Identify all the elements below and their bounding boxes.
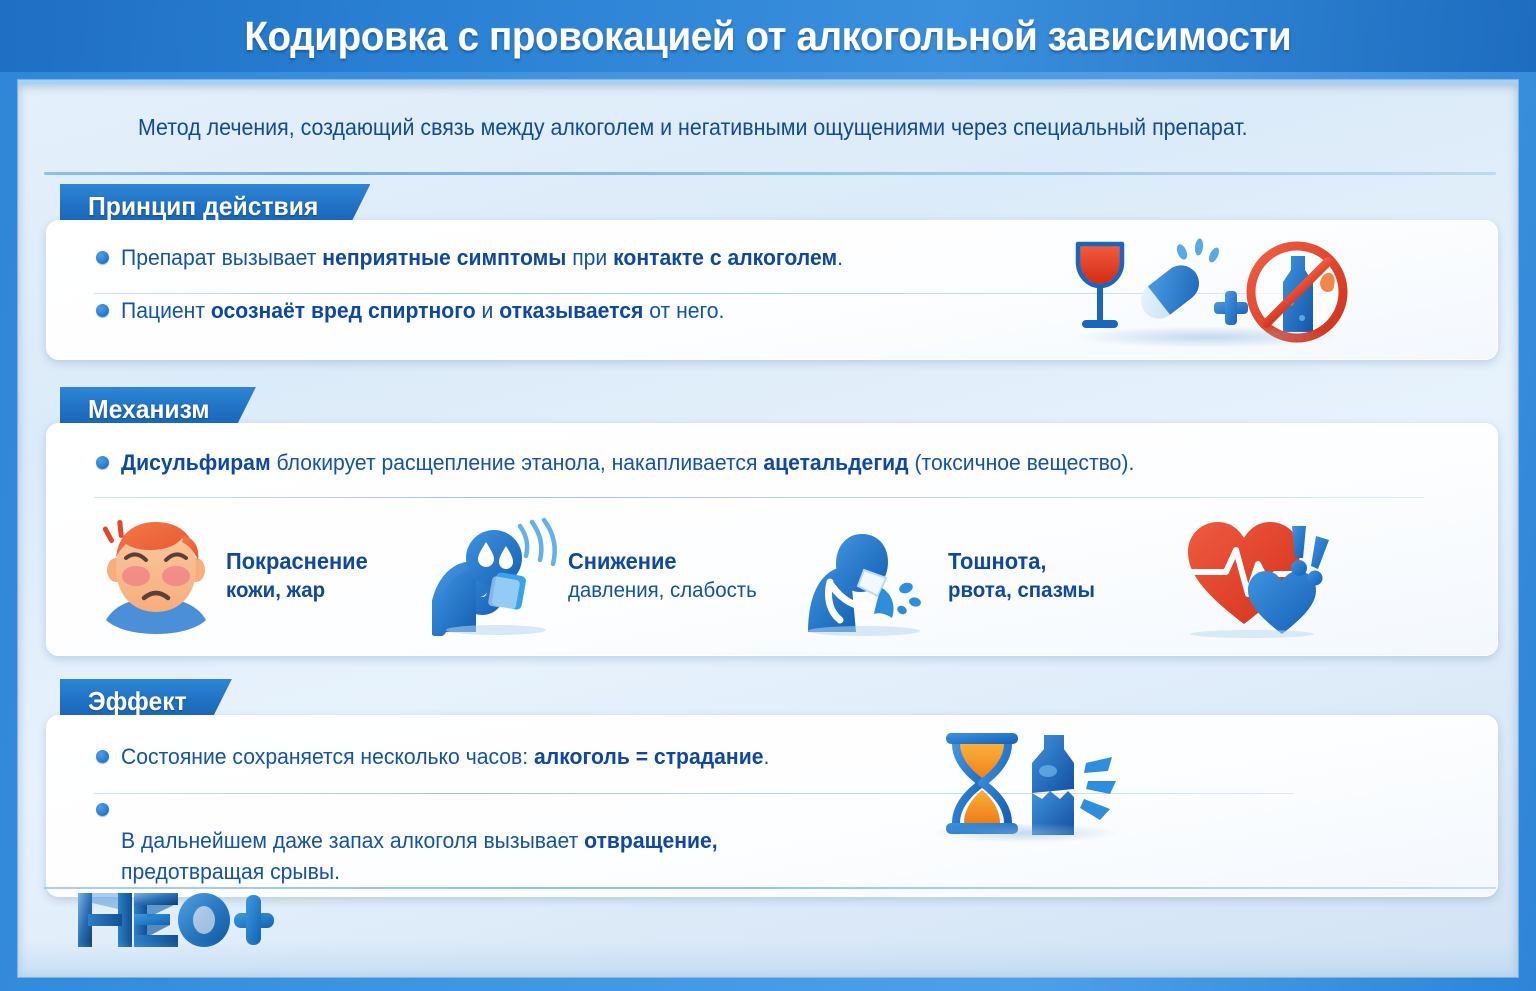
symptom-item bbox=[1182, 514, 1382, 639]
bullet-dot-icon bbox=[96, 750, 109, 763]
bullet-dot-icon bbox=[96, 456, 109, 469]
divider-top bbox=[44, 172, 1496, 175]
text-run: предотвращая срывы. bbox=[121, 859, 340, 884]
section-principle: Принцип действия Препарат вызывает непри… bbox=[46, 184, 1498, 228]
text-run-bold: Дисульфирам bbox=[121, 450, 271, 475]
symptom-label: Снижение давления, слабость bbox=[568, 547, 767, 605]
text-run: В дальнейшем даже запах алкоголя вызывае… bbox=[121, 828, 584, 853]
bullet-text: Состояние сохраняется несколько часов: а… bbox=[121, 741, 769, 772]
page-header: Кодировка с провокацией от алкогольной з… bbox=[0, 0, 1536, 72]
text-run: от него. bbox=[643, 298, 724, 323]
text-run-bold: неприятные симптомы bbox=[322, 245, 566, 270]
symptom-line2: рвота, спазмы bbox=[948, 576, 1095, 605]
plus-icon bbox=[1214, 291, 1248, 325]
bullet-dot-icon bbox=[96, 304, 109, 317]
heartbeat-alert-icon bbox=[1182, 514, 1342, 639]
bullet-dot-icon bbox=[96, 251, 109, 264]
neo-plus-logo-icon bbox=[74, 889, 274, 951]
anger-marks-icon bbox=[102, 519, 124, 543]
symptom-line1: Тошнота, bbox=[948, 547, 1095, 576]
bullet-text: Дисульфирам блокирует расщепление этанол… bbox=[121, 447, 1134, 478]
brand-logo bbox=[74, 889, 274, 951]
text-run: Состояние сохраняется несколько часов: bbox=[121, 744, 534, 769]
symptom-item: Покраснение кожи, жар bbox=[92, 514, 432, 639]
bullet-dot-icon bbox=[96, 803, 109, 816]
symptom-item: Тошнота, рвота, спазмы bbox=[802, 516, 1182, 636]
text-run: и bbox=[476, 298, 500, 323]
bullet-divider bbox=[94, 497, 1424, 498]
symptom-line2: давления, слабость bbox=[568, 576, 757, 605]
motion-lines-icon bbox=[520, 520, 555, 564]
symptom-line1: Покраснение bbox=[226, 547, 368, 576]
text-run-bold: контакте с алкоголем bbox=[613, 245, 837, 270]
symptom-label: Покраснение кожи, жар bbox=[226, 547, 375, 605]
text-run-bold: ацетальдегид bbox=[763, 450, 908, 475]
icon-cluster-effect bbox=[926, 719, 1126, 847]
card-mechanism: Дисульфирам блокирует расщепление этанол… bbox=[46, 423, 1498, 656]
sparkle-icon bbox=[1175, 238, 1221, 264]
symptom-item: Снижение давления, слабость bbox=[432, 516, 802, 636]
page-title: Кодировка с провокацией от алкогольной з… bbox=[245, 13, 1292, 60]
dizzy-person-icon bbox=[432, 516, 562, 636]
vomiting-person-icon bbox=[802, 516, 942, 636]
content-panel: Метод лечения, создающий связь между алк… bbox=[18, 80, 1518, 977]
text-run: блокирует расщепление этанола, накаплива… bbox=[271, 450, 764, 475]
logo-letter-n bbox=[78, 893, 132, 947]
text-run-bold: отказывается bbox=[499, 298, 643, 323]
bullet-text: Препарат вызывает неприятные симптомы пр… bbox=[121, 242, 843, 273]
bullet-item: Дисульфирам блокирует расщепление этанол… bbox=[96, 447, 1498, 478]
text-run: Пациент bbox=[121, 298, 211, 323]
symptom-row: Покраснение кожи, жар bbox=[92, 511, 1472, 641]
symptom-label: Тошнота, рвота, спазмы bbox=[948, 547, 1103, 605]
text-run: при bbox=[566, 245, 613, 270]
pill-capsule-icon bbox=[1134, 258, 1207, 326]
symptom-line1: Снижение bbox=[568, 547, 757, 576]
broken-bottle-icon bbox=[1032, 735, 1074, 835]
icon-cluster-principle bbox=[1062, 230, 1352, 350]
impact-lines-icon bbox=[1080, 757, 1116, 820]
text-run-bold: алкоголь = страдание bbox=[534, 744, 763, 769]
logo-letter-e bbox=[134, 893, 178, 947]
flushed-face-icon bbox=[92, 514, 220, 639]
bullet-item: Состояние сохраняется несколько часов: а… bbox=[96, 741, 1498, 772]
bullet-text: Пациент осознаёт вред спиртного и отказы… bbox=[121, 295, 724, 326]
text-run: . bbox=[837, 245, 843, 270]
text-run: (токсичное вещество). bbox=[909, 450, 1135, 475]
symptom-line2: кожи, жар bbox=[226, 576, 368, 605]
intro-text: Метод лечения, создающий связь между алк… bbox=[138, 114, 1375, 141]
wine-glass-icon bbox=[1078, 244, 1122, 328]
section-mechanism: Механизм Дисульфирам блокирует расщеплен… bbox=[46, 387, 1498, 431]
card-principle: Препарат вызывает неприятные симптомы пр… bbox=[46, 220, 1498, 360]
infographic-page: Кодировка с провокацией от алкогольной з… bbox=[0, 0, 1536, 991]
section-effect: Эффект Состояние сохраняется несколько ч… bbox=[46, 679, 1498, 723]
logo-letter-o bbox=[178, 893, 230, 947]
bullet-item: В дальнейшем даже запах алкоголя вызывае… bbox=[96, 794, 1498, 887]
text-run-bold: отвращение, bbox=[584, 828, 717, 853]
hourglass-icon bbox=[946, 733, 1018, 834]
bullet-text: В дальнейшем даже запах алкоголя вызывае… bbox=[121, 794, 718, 887]
logo-plus-icon bbox=[234, 895, 274, 945]
card-effect: Состояние сохраняется несколько часов: а… bbox=[46, 715, 1498, 897]
text-run-bold: осознаёт вред спиртного bbox=[211, 298, 476, 323]
text-run: . bbox=[763, 744, 769, 769]
no-alcohol-icon bbox=[1249, 244, 1345, 340]
text-run: Препарат вызывает bbox=[121, 245, 322, 270]
